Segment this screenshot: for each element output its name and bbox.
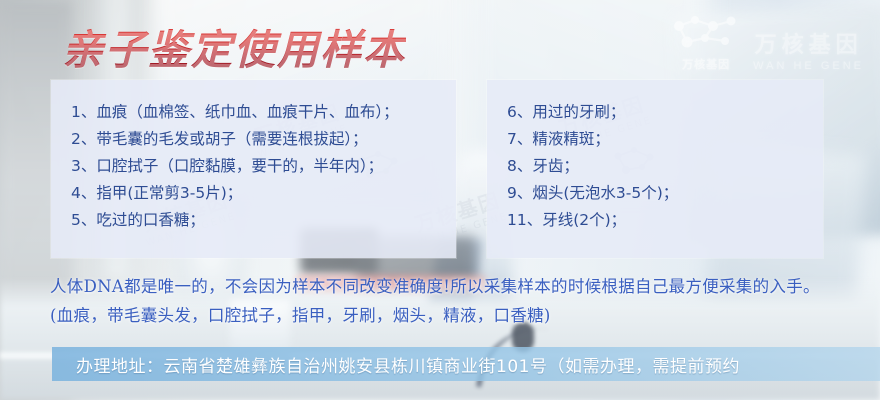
logo-chinese-small: 万核基因 [682,56,730,72]
list-item: 6、用过的牙刷； [507,99,823,126]
address-bar-text: 办理地址：云南省楚雄彝族自治州姚安县栋川镇商业街101号（如需办理，需提前预约 [52,352,740,377]
sample-list-panel-left: 1、血痕（血棉签、纸巾血、血痕干片、血布）； 2、带毛囊的毛发或胡子（需要连根拔… [51,80,456,258]
list-item: 1、血痕（血棉签、纸巾血、血痕干片、血布）； [71,99,456,126]
dna-molecule-icon [669,14,743,54]
list-item: 7、精液精斑； [507,126,823,153]
brand-logo: 万核基因 万核基因 WAN HE GENE [669,14,864,72]
logo-wordmark: 万核基因 WAN HE GENE [753,27,864,72]
poster-canvas: 万核基因 万核基因 WAN HE GENE 万核基因 WAN HE GENE 万… [0,0,880,400]
list-item: 5、吃过的口香糖； [71,207,456,234]
list-item: 4、指甲(正常剪3-5片)； [71,180,456,207]
list-item: 11、牙线(2个)； [507,207,823,234]
list-item: 2、带毛囊的毛发或胡子（需要连根拔起）； [71,126,456,153]
logo-english: WAN HE GENE [753,60,864,72]
logo-chinese-large: 万核基因 [755,27,863,59]
logo-mark: 万核基因 [669,14,743,72]
sample-list-panel-right: 6、用过的牙刷； 7、精液精斑； 8、牙齿； 9、烟头(无泡水3-5个)； 11… [487,80,823,258]
sample-list-right: 6、用过的牙刷； 7、精液精斑； 8、牙齿； 9、烟头(无泡水3-5个)； 11… [487,80,823,234]
description-paragraph: 人体DNA都是唯一的，不会因为样本不同改变准确度!所以采集样本的时候根据自己最方… [50,272,840,330]
list-item: 3、口腔拭子（口腔黏膜，要干的，半年内）； [71,153,456,180]
list-item: 8、牙齿； [507,153,823,180]
page-title: 亲子鉴定使用样本 [62,16,406,76]
list-item: 9、烟头(无泡水3-5个)； [507,180,823,207]
sample-list-left: 1、血痕（血棉签、纸巾血、血痕干片、血布）； 2、带毛囊的毛发或胡子（需要连根拔… [51,80,456,234]
address-bar: 办理地址：云南省楚雄彝族自治州姚安县栋川镇商业街101号（如需办理，需提前预约 [52,347,880,381]
